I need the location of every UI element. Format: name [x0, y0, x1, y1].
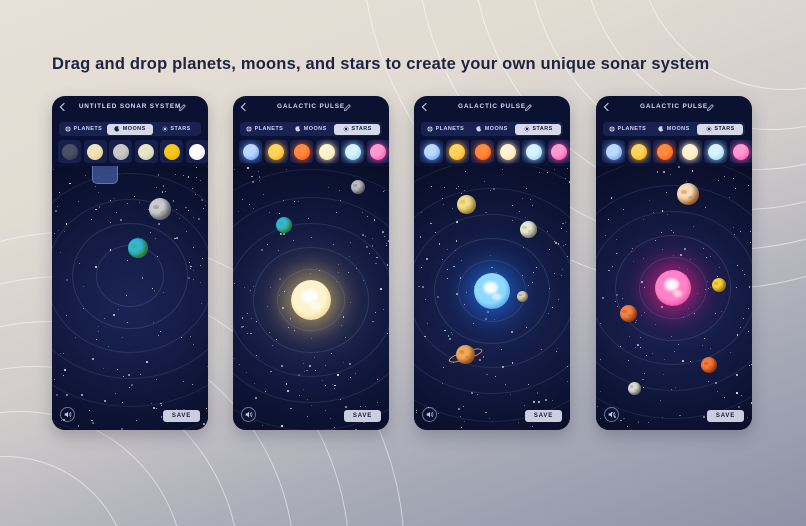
- moon-white: [189, 144, 205, 160]
- save-button[interactable]: SAVE: [163, 410, 200, 422]
- sound-wave-icon: [244, 406, 253, 424]
- phone-4-palette: [602, 140, 752, 163]
- palette-swatch-star-cyan[interactable]: [704, 140, 727, 163]
- pencil-icon[interactable]: [344, 104, 351, 111]
- palette-swatch-star-cream[interactable]: [497, 140, 520, 163]
- moon-gray-bottom[interactable]: [628, 382, 641, 395]
- crescent-moon-icon: [295, 126, 301, 132]
- phone-2: GALACTIC PULSE PLANETS MOONS STARS: [233, 96, 389, 430]
- save-button[interactable]: SAVE: [525, 410, 562, 422]
- palette-swatch-star-cream[interactable]: [679, 140, 702, 163]
- planet-saturn[interactable]: [456, 345, 475, 364]
- crescent-moon-icon: [476, 126, 482, 132]
- phone-3-palette: [420, 140, 570, 163]
- tab-label: STARS: [714, 126, 734, 132]
- document-title: GALACTIC PULSE: [414, 103, 570, 110]
- tab-label: PLANETS: [74, 126, 103, 132]
- phone-3-topbar: GALACTIC PULSE: [414, 96, 570, 122]
- palette-swatch-moon-silver[interactable]: [109, 140, 132, 163]
- star-blue-center[interactable]: [474, 273, 510, 309]
- save-button[interactable]: SAVE: [344, 410, 381, 422]
- moon-pale-green: [138, 144, 154, 160]
- palette-swatch-star-pink[interactable]: [367, 140, 390, 163]
- save-button[interactable]: SAVE: [707, 410, 744, 422]
- tab-planets[interactable]: PLANETS: [605, 124, 651, 135]
- palette-swatch-star-pink[interactable]: [730, 140, 753, 163]
- tab-label: MOONS: [304, 126, 327, 132]
- palette-swatch-moon-cream[interactable]: [84, 140, 107, 163]
- palette-swatch-star-cyan[interactable]: [522, 140, 545, 163]
- phone-2-topbar: GALACTIC PULSE: [233, 96, 389, 122]
- star-cyan: [345, 144, 361, 160]
- tab-planets[interactable]: PLANETS: [61, 124, 107, 135]
- phone-2-canvas[interactable]: SAVE: [233, 166, 389, 430]
- globe-icon: [246, 126, 252, 132]
- star-pink: [551, 144, 567, 160]
- sun-burst-icon: [343, 126, 349, 132]
- star-blue: [606, 144, 622, 160]
- tab-label: PLANETS: [618, 126, 647, 132]
- palette-swatch-star-amber[interactable]: [628, 140, 651, 163]
- star-cream: [682, 144, 698, 160]
- phone-4-topbar: GALACTIC PULSE: [596, 96, 752, 122]
- tab-stars[interactable]: STARS: [334, 124, 380, 135]
- phone-1-topbar: UNTITLED SONAR SYSTEM: [52, 96, 208, 122]
- palette-swatch-star-blue[interactable]: [239, 140, 262, 163]
- moon-golden: [164, 144, 180, 160]
- crescent-moon-icon: [658, 126, 664, 132]
- sound-toggle-button[interactable]: [604, 407, 619, 422]
- star-red-orange: [294, 144, 310, 160]
- tab-label: MOONS: [667, 126, 690, 132]
- star-dot: [200, 429, 201, 430]
- planet-jupiter[interactable]: [677, 183, 699, 205]
- tab-stars[interactable]: STARS: [153, 124, 199, 135]
- globe-icon: [65, 126, 71, 132]
- star-pink: [733, 144, 749, 160]
- phone-4-tabbar: PLANETS MOONS STARS: [603, 122, 745, 136]
- star-pink: [370, 144, 386, 160]
- palette-swatch-star-amber[interactable]: [446, 140, 469, 163]
- star-amber: [449, 144, 465, 160]
- globe-icon: [609, 126, 615, 132]
- moon-tan[interactable]: [517, 291, 528, 302]
- star-blue: [424, 144, 440, 160]
- planet-earth[interactable]: [276, 217, 292, 233]
- sun-burst-icon: [524, 126, 530, 132]
- tab-label: MOONS: [485, 126, 508, 132]
- pencil-icon[interactable]: [707, 104, 714, 111]
- star-blue: [243, 144, 259, 160]
- phone-2-palette: [239, 140, 389, 163]
- moon-gray[interactable]: [351, 180, 365, 194]
- phone-3-tabbar: PLANETS MOONS STARS: [421, 122, 563, 136]
- phone-3-canvas[interactable]: SAVE: [414, 166, 570, 430]
- star-cyan: [708, 144, 724, 160]
- moon-dark-crescent: [62, 144, 78, 160]
- decor-arc-bl-1: [0, 456, 130, 526]
- tab-label: STARS: [170, 126, 190, 132]
- star-cyan: [526, 144, 542, 160]
- document-title: GALACTIC PULSE: [596, 103, 752, 110]
- planet-yellow[interactable]: [457, 195, 476, 214]
- tab-label: MOONS: [123, 126, 146, 132]
- planet-orange-lower[interactable]: [701, 357, 717, 373]
- page-headline: Drag and drop planets, moons, and stars …: [52, 55, 752, 74]
- sound-toggle-button[interactable]: [241, 407, 256, 422]
- sound-wave-icon: [607, 406, 616, 424]
- star-cream-center[interactable]: [291, 280, 331, 320]
- tab-label: PLANETS: [436, 126, 465, 132]
- phone-1: UNTITLED SONAR SYSTEM PLANETS MOONS STAR…: [52, 96, 208, 430]
- tab-label: STARS: [532, 126, 552, 132]
- pencil-icon[interactable]: [525, 104, 532, 111]
- tab-planets[interactable]: PLANETS: [423, 124, 469, 135]
- palette-swatch-star-red-orange[interactable]: [653, 140, 676, 163]
- tab-stars[interactable]: STARS: [515, 124, 561, 135]
- document-title: GALACTIC PULSE: [233, 103, 389, 110]
- palette-swatch-star-amber[interactable]: [265, 140, 288, 163]
- tab-moons[interactable]: MOONS: [288, 124, 334, 135]
- palette-swatch-star-cream[interactable]: [316, 140, 339, 163]
- moon-gray-dragged[interactable]: [149, 198, 171, 220]
- crescent-moon-icon: [114, 126, 120, 132]
- phone-1-tabbar: PLANETS MOONS STARS: [59, 122, 201, 136]
- sound-wave-icon: [425, 406, 434, 424]
- palette-swatch-moon-white[interactable]: [186, 140, 209, 163]
- palette-swatch-star-red-orange[interactable]: [290, 140, 313, 163]
- sound-toggle-button[interactable]: [60, 407, 75, 422]
- phone-2-tabbar: PLANETS MOONS STARS: [240, 122, 382, 136]
- palette-swatch-moon-dark-crescent[interactable]: [58, 140, 81, 163]
- tab-stars[interactable]: STARS: [697, 124, 743, 135]
- planet-orange-left[interactable]: [620, 305, 637, 322]
- moon-pale[interactable]: [520, 221, 537, 238]
- palette-swatch-moon-pale-green[interactable]: [135, 140, 158, 163]
- tab-label: STARS: [351, 126, 371, 132]
- phone-1-palette: [58, 140, 208, 163]
- moon-silver: [113, 144, 129, 160]
- star-cream: [500, 144, 516, 160]
- tab-moons[interactable]: MOONS: [651, 124, 697, 135]
- phone-1-canvas[interactable]: SAVE: [52, 166, 208, 430]
- star-red-orange: [475, 144, 491, 160]
- palette-swatch-star-blue[interactable]: [602, 140, 625, 163]
- palette-swatch-star-red-orange[interactable]: [471, 140, 494, 163]
- tab-moons[interactable]: MOONS: [469, 124, 515, 135]
- palette-swatch-moon-golden[interactable]: [160, 140, 183, 163]
- tab-moons[interactable]: MOONS: [107, 124, 153, 135]
- sound-wave-icon: [63, 406, 72, 424]
- planet-earth[interactable]: [128, 238, 148, 258]
- palette-swatch-star-blue[interactable]: [420, 140, 443, 163]
- star-cream: [319, 144, 335, 160]
- globe-icon: [427, 126, 433, 132]
- star-red-orange: [657, 144, 673, 160]
- phone-4: GALACTIC PULSE PLANETS MOONS STARS: [596, 96, 752, 430]
- moon-cream: [87, 144, 103, 160]
- star-pink-center[interactable]: [655, 270, 691, 306]
- pencil-icon[interactable]: [179, 104, 186, 111]
- phone-3: GALACTIC PULSE PLANETS MOONS STARS: [414, 96, 570, 430]
- orbit-ring: [52, 166, 208, 430]
- star-amber: [631, 144, 647, 160]
- sun-burst-icon: [706, 126, 712, 132]
- decor-arc-tr-1: [636, 0, 806, 90]
- phone-4-canvas[interactable]: SAVE: [596, 166, 752, 430]
- palette-swatch-star-cyan[interactable]: [341, 140, 364, 163]
- sun-burst-icon: [162, 126, 168, 132]
- drag-ghost-tile[interactable]: [92, 166, 118, 184]
- planet-yellow-small[interactable]: [712, 278, 726, 292]
- star-amber: [268, 144, 284, 160]
- palette-swatch-star-pink[interactable]: [548, 140, 571, 163]
- tab-label: PLANETS: [255, 126, 284, 132]
- sound-toggle-button[interactable]: [422, 407, 437, 422]
- tab-planets[interactable]: PLANETS: [242, 124, 288, 135]
